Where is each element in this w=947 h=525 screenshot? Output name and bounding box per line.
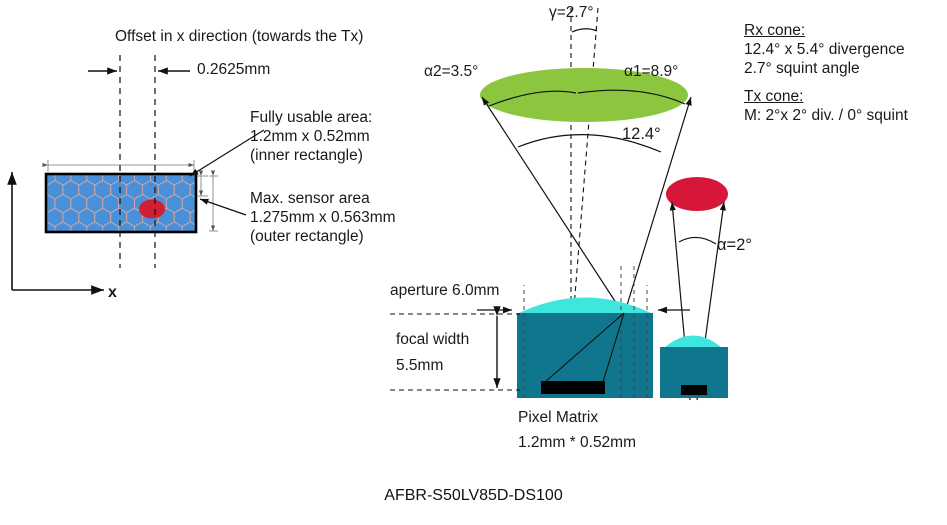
alpha-label: α=2° [717,236,752,255]
rx-axis-squint [573,8,598,320]
pixel-matrix-value: 1.2mm * 0.52mm [518,433,636,452]
spec-block: Rx cone: 12.4° x 5.4° divergence 2.7° sq… [744,21,908,125]
gamma-label: γ=2.7° [549,3,594,22]
offset-title: Offset in x direction (towards the Tx) [115,27,363,46]
tx-optics [660,336,728,399]
callout-max-l3: (outer rectangle) [250,227,396,246]
tx-lens-dome [664,336,722,349]
rx-lens-dome [517,298,653,315]
callout-usable-l1: Fully usable area: [250,108,372,127]
tx-cone-heading: Tx cone: [744,87,908,106]
axis-x-label: x [108,283,117,302]
pixel-hex-grid [39,167,206,241]
rx-cone-line2: 2.7° squint angle [744,59,908,78]
callout-max-l2: 1.275mm x 0.563mm [250,208,396,227]
tx-emitter [681,385,707,395]
alpha2-label: α2=3.5° [424,62,478,81]
sensor-array [39,167,206,241]
rx-cone-edge-left [482,97,624,315]
divergence-label: 12.4° [622,125,661,144]
callout-fully-usable-area: Fully usable area: 1.2mm x 0.52mm (inner… [250,108,372,165]
alpha1-label: α1=8.9° [624,62,678,81]
alpha-arc [679,237,716,244]
pixel-matrix-label: Pixel Matrix [518,408,598,427]
offset-value: 0.2625mm [197,60,270,79]
offset-indicator [88,55,190,268]
focal-width-label: focal width [396,330,469,349]
rx-cone-line1: 12.4° x 5.4° divergence [744,40,908,59]
rx-cone-heading: Rx cone: [744,21,908,40]
callout-max-sensor-area: Max. sensor area 1.275mm x 0.563mm (oute… [250,189,396,246]
focal-width-value: 5.5mm [396,356,443,375]
tx-spot-ellipse [666,177,728,211]
figure-caption: AFBR-S50LV85D-DS100 [0,487,947,505]
callout-usable-l2: 1.2mm x 0.52mm [250,127,372,146]
callout-max-l1: Max. sensor area [250,189,396,208]
aperture-label: aperture 6.0mm [390,281,499,300]
gamma-arc [572,29,597,32]
reference-pixel [139,200,165,219]
tx-cone-line1: M: 2°x 2° div. / 0° squint [744,106,908,125]
rx-pixel-matrix [541,381,605,394]
rx-cone [480,8,691,320]
callout-usable-l3: (inner rectangle) [250,146,372,165]
